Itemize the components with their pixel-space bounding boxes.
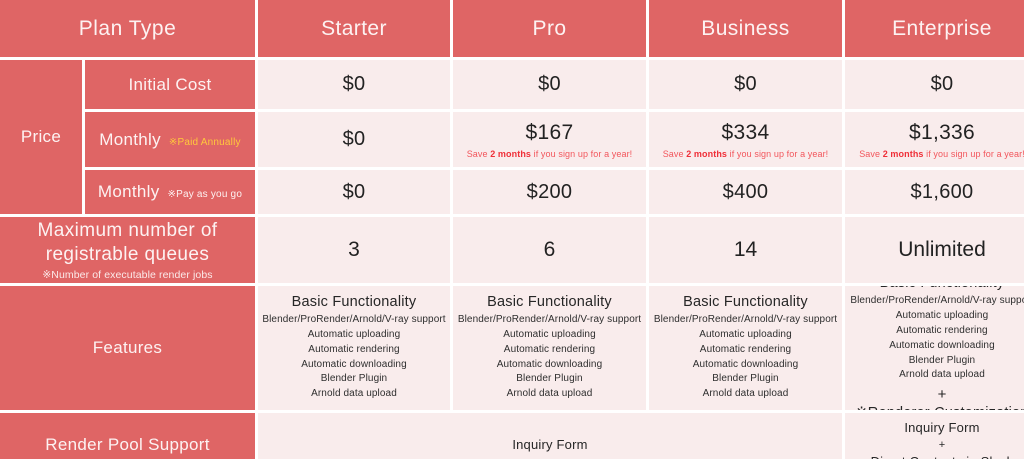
feature-extra: ※Renderer Customization [855,405,1024,410]
row-label-render-pool-support: Render Pool Support [0,413,255,459]
value: $1,336 [909,121,975,145]
value: $0 [343,73,366,96]
cell-monthly-annual-starter: $0 [258,112,450,167]
value: $0 [734,73,757,96]
feature-title: Basic Functionality [880,286,1005,291]
cell-initial-cost-enterprise: $0 [845,60,1024,109]
feature-title: Basic Functionality [683,294,808,310]
row-label-features: Features [0,286,255,410]
value: $0 [343,128,366,151]
header-plan-starter: Starter [258,0,450,57]
value: $0 [538,73,561,96]
feature-title: Basic Functionality [292,294,417,310]
feature-item: Automatic rendering [654,343,837,358]
feature-list: Blender/ProRender/Arnold/V-ray support A… [458,313,641,402]
max-queues-note: ※Number of executable render jobs [42,269,212,281]
monthly-annual-note: ※Paid Annually [169,137,241,148]
header-plan-enterprise: Enterprise [845,0,1024,57]
value: $0 [931,73,954,96]
value: 3 [348,238,360,262]
cell-initial-cost-business: $0 [649,60,842,109]
feature-list: Blender/ProRender/Arnold/V-ray support A… [262,313,445,402]
cell-monthly-payg-business: $400 [649,170,842,214]
support-value-line2: Direct Contact via Slack [871,452,1014,459]
feature-list: Blender/ProRender/Arnold/V-ray support A… [654,313,837,402]
monthly-annual-label: Monthly [99,130,161,150]
row-label-initial-cost: Initial Cost [85,60,255,109]
table-grid: Plan Type Starter Pro Business Enterpris… [0,0,1024,459]
cell-monthly-payg-enterprise: $1,600 [845,170,1024,214]
feature-item: Automatic uploading [654,328,837,343]
value: $167 [526,121,574,145]
feature-item: Blender Plugin [458,372,641,387]
feature-item: Automatic downloading [654,358,837,373]
cell-support-starter-pro-business: Inquiry Form [258,413,842,459]
feature-item: Blender Plugin [850,354,1024,369]
cell-monthly-annual-pro: $167 Save 2 months if you sign up for a … [453,112,646,167]
cell-monthly-payg-starter: $0 [258,170,450,214]
max-queues-label-line1: Maximum number of [38,219,218,243]
value: 6 [544,238,556,262]
cell-monthly-payg-pro: $200 [453,170,646,214]
plan-name-pro: Pro [533,17,567,41]
render-pool-support-label: Render Pool Support [45,435,209,455]
cell-queues-enterprise: Unlimited [845,217,1024,283]
feature-item: Blender Plugin [654,372,837,387]
feature-plus-sign: + [938,385,947,405]
feature-item: Automatic uploading [850,309,1024,324]
feature-item: Automatic uploading [458,328,641,343]
value: $400 [723,181,769,204]
feature-item: Arnold data upload [850,368,1024,383]
value: $0 [343,181,366,204]
cell-queues-business: 14 [649,217,842,283]
row-group-label-price: Price [0,60,82,214]
cell-features-enterprise: Basic Functionality Blender/ProRender/Ar… [845,286,1024,410]
feature-item: Automatic downloading [458,358,641,373]
features-label: Features [93,338,163,358]
cell-monthly-annual-business: $334 Save 2 months if you sign up for a … [649,112,842,167]
cell-initial-cost-starter: $0 [258,60,450,109]
cell-features-starter: Basic Functionality Blender/ProRender/Ar… [258,286,450,410]
monthly-payg-note: ※Pay as you go [168,189,243,200]
feature-item: Automatic rendering [262,343,445,358]
feature-item: Automatic rendering [850,324,1024,339]
value: $334 [722,121,770,145]
header-plan-pro: Pro [453,0,646,57]
plan-name-starter: Starter [321,17,387,41]
cell-queues-starter: 3 [258,217,450,283]
save-note-business: Save 2 months if you sign up for a year! [663,149,829,159]
value: Unlimited [898,238,986,262]
feature-item: Automatic downloading [850,339,1024,354]
feature-item: Arnold data upload [262,387,445,402]
plan-name-enterprise: Enterprise [892,17,992,41]
feature-list: Blender/ProRender/Arnold/V-ray support A… [850,294,1024,383]
feature-item: Blender/ProRender/Arnold/V-ray support [262,313,445,328]
pricing-comparison-table: Plan Type Starter Pro Business Enterpris… [0,0,1024,459]
feature-item: Blender/ProRender/Arnold/V-ray support [654,313,837,328]
feature-item: Arnold data upload [654,387,837,402]
initial-cost-label: Initial Cost [129,75,212,95]
support-plus-sign: + [939,438,945,452]
header-plan-type: Plan Type [0,0,255,57]
cell-queues-pro: 6 [453,217,646,283]
plan-type-label: Plan Type [79,17,177,41]
feature-item: Automatic rendering [458,343,641,358]
support-value-line1: Inquiry Form [904,418,979,438]
feature-item: Blender/ProRender/Arnold/V-ray support [458,313,641,328]
feature-item: Blender Plugin [262,372,445,387]
feature-item: Automatic uploading [262,328,445,343]
feature-item: Automatic downloading [262,358,445,373]
monthly-payg-label: Monthly [98,182,160,202]
header-plan-business: Business [649,0,842,57]
cell-monthly-annual-enterprise: $1,336 Save 2 months if you sign up for … [845,112,1024,167]
cell-features-pro: Basic Functionality Blender/ProRender/Ar… [453,286,646,410]
feature-item: Blender/ProRender/Arnold/V-ray support [850,294,1024,309]
row-label-monthly-payg: Monthly ※Pay as you go [85,170,255,214]
row-label-monthly-annual: Monthly ※Paid Annually [85,112,255,167]
cell-support-enterprise: Inquiry Form + Direct Contact via Slack [845,413,1024,459]
row-label-max-queues: Maximum number of registrable queues ※Nu… [0,217,255,283]
save-note-enterprise: Save 2 months if you sign up for a year! [859,149,1024,159]
support-value: Inquiry Form [512,435,587,455]
cell-features-business: Basic Functionality Blender/ProRender/Ar… [649,286,842,410]
cell-initial-cost-pro: $0 [453,60,646,109]
price-group-label: Price [21,127,61,147]
plan-name-business: Business [701,17,789,41]
feature-title: Basic Functionality [487,294,612,310]
feature-item: Arnold data upload [458,387,641,402]
value: $200 [527,181,573,204]
max-queues-label-line2: registrable queues [46,243,210,267]
save-note-pro: Save 2 months if you sign up for a year! [467,149,633,159]
value: 14 [734,238,757,262]
value: $1,600 [911,181,974,204]
